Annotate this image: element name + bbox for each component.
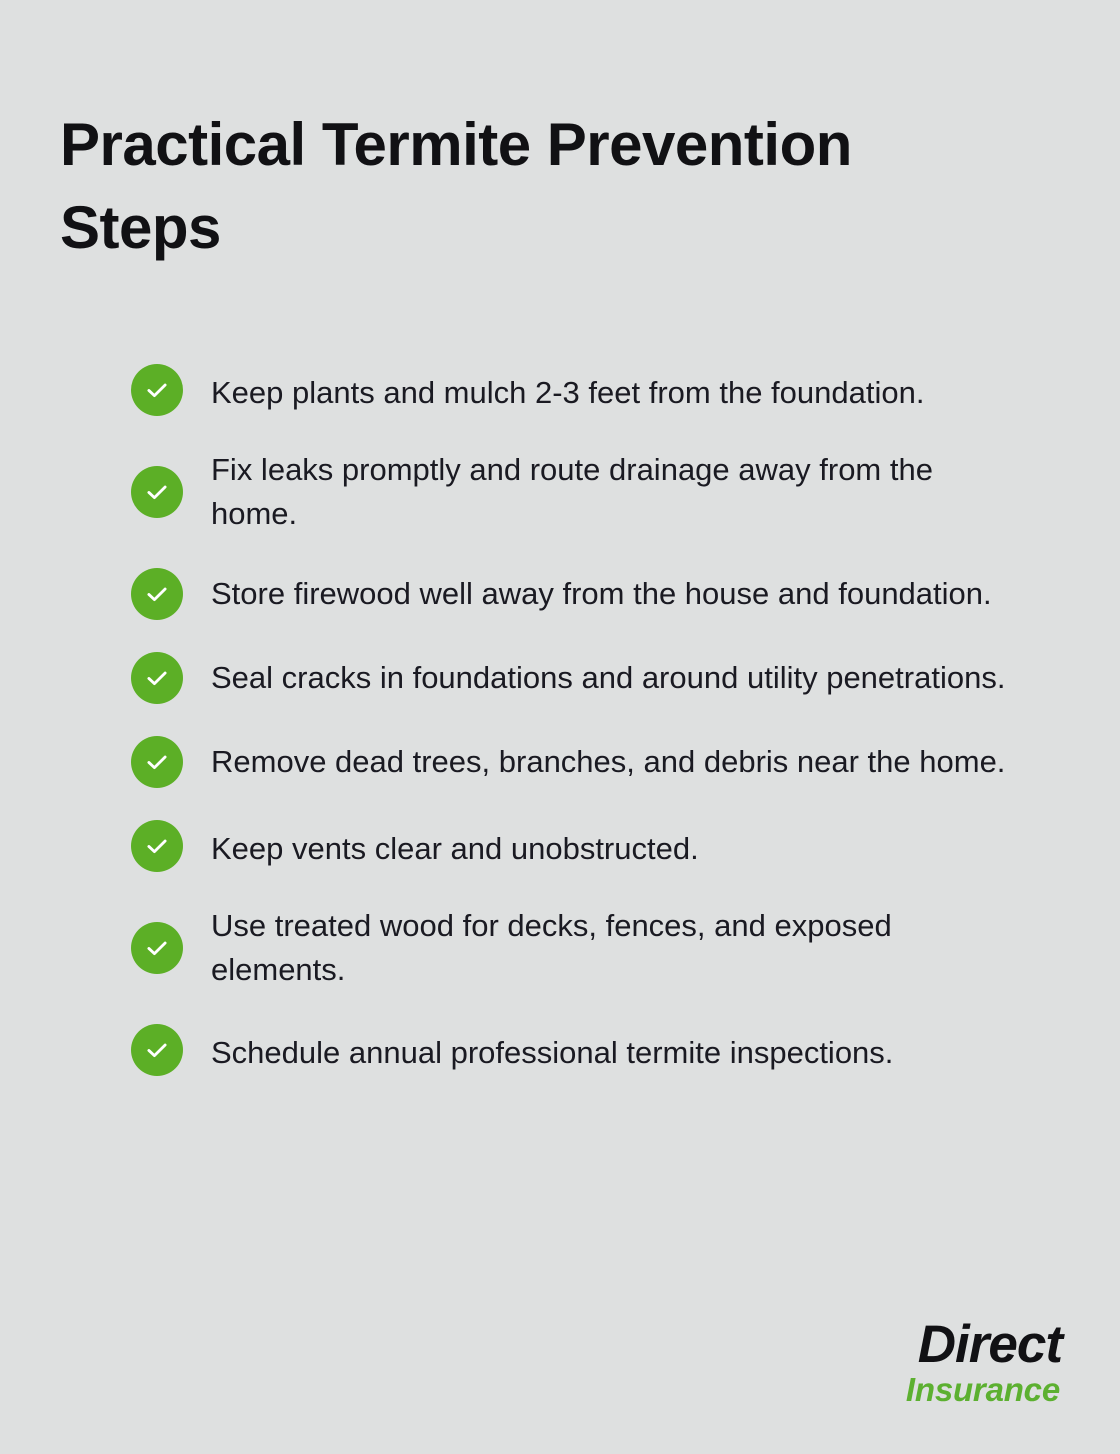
logo-primary-text: Direct	[906, 1318, 1062, 1371]
list-item-label: Use treated wood for decks, fences, and …	[211, 904, 1011, 992]
check-circle-icon	[131, 466, 183, 518]
infographic-canvas: Practical Termite Prevention Steps Keep …	[0, 0, 1120, 1454]
list-item: Store firewood well away from the house …	[131, 568, 1031, 620]
list-item-label: Fix leaks promptly and route drainage aw…	[211, 448, 1011, 536]
list-item: Keep plants and mulch 2-3 feet from the …	[131, 364, 1031, 416]
check-circle-icon	[131, 652, 183, 704]
list-item: Remove dead trees, branches, and debris …	[131, 736, 1031, 788]
list-item: Use treated wood for decks, fences, and …	[131, 904, 1031, 992]
list-item-label: Store firewood well away from the house …	[211, 572, 992, 616]
list-item: Keep vents clear and unobstructed.	[131, 820, 1031, 872]
logo-secondary-text: Insurance	[906, 1373, 1060, 1406]
list-item-label: Remove dead trees, branches, and debris …	[211, 740, 1005, 784]
page-title: Practical Termite Prevention Steps	[60, 104, 1020, 270]
list-item-label: Keep plants and mulch 2-3 feet from the …	[211, 364, 924, 415]
list-item-label: Keep vents clear and unobstructed.	[211, 820, 699, 871]
check-circle-icon	[131, 364, 183, 416]
list-item: Seal cracks in foundations and around ut…	[131, 652, 1031, 704]
brand-logo: Direct Insurance	[906, 1318, 1062, 1406]
check-circle-icon	[131, 1024, 183, 1076]
check-circle-icon	[131, 922, 183, 974]
list-item-label: Seal cracks in foundations and around ut…	[211, 656, 1005, 700]
check-circle-icon	[131, 736, 183, 788]
check-circle-icon	[131, 820, 183, 872]
check-circle-icon	[131, 568, 183, 620]
list-item-label: Schedule annual professional termite ins…	[211, 1024, 893, 1075]
prevention-steps-list: Keep plants and mulch 2-3 feet from the …	[131, 364, 1031, 1108]
list-item: Schedule annual professional termite ins…	[131, 1024, 1031, 1076]
list-item: Fix leaks promptly and route drainage aw…	[131, 448, 1031, 536]
